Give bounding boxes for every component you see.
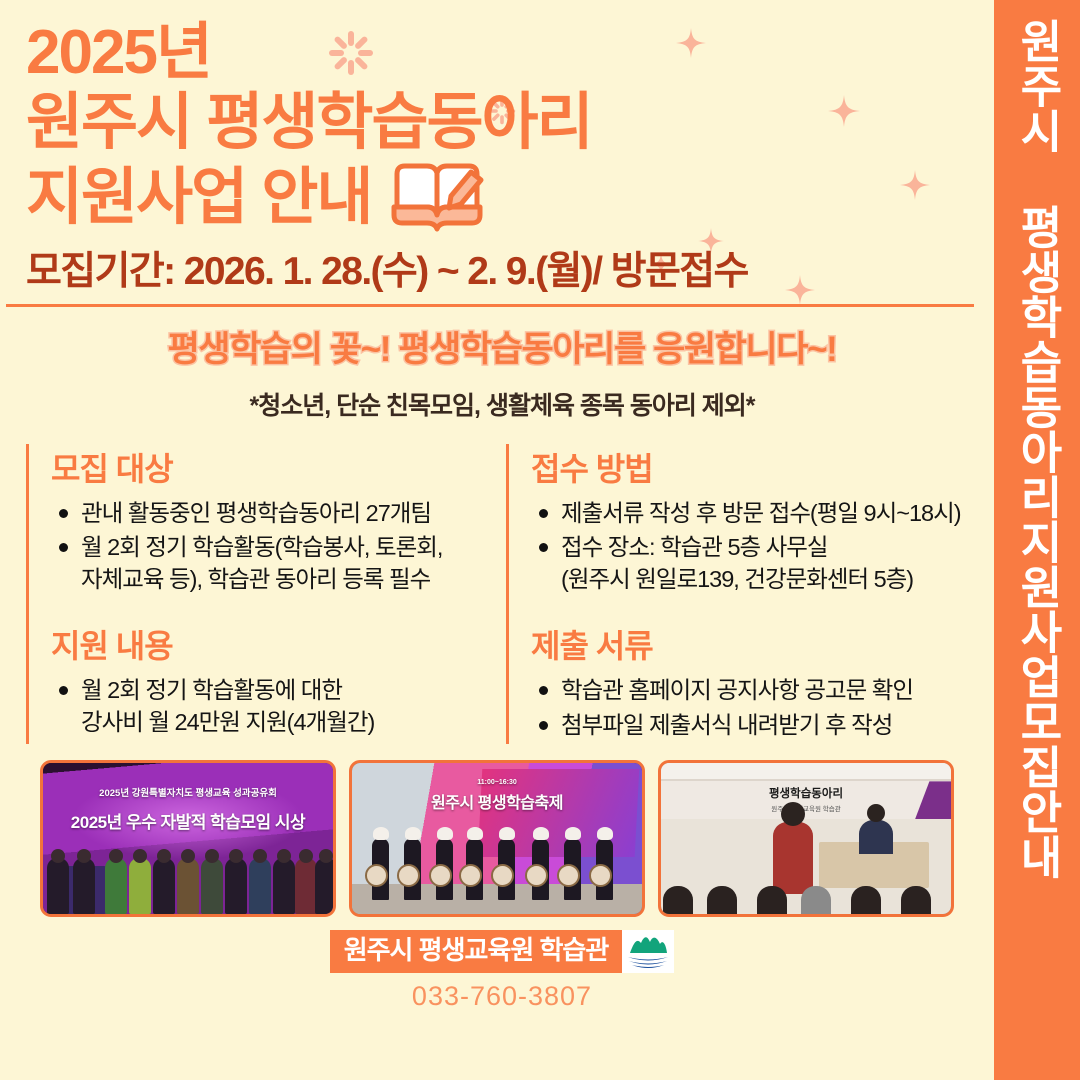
photo-caption-sub: 11:00~16:30 <box>477 779 517 786</box>
divider-line <box>6 304 974 307</box>
phone-number: 033-760-3807 <box>412 981 592 1012</box>
application-list: 제출서류 작성 후 방문 접수(평일 9시~18시) 접수 장소: 학습관 5층… <box>531 498 978 595</box>
page-title: 2025년 원주시 평생학습동아리 지원사업 안내 <box>26 18 978 237</box>
footer: 원주시 평생교육원 학습관 033-760-3807 <box>26 930 978 1012</box>
award-ceremony-photo: 2025년 강원특별자치도 평생교육 성과공유회 2025년 우수 자발적 학습… <box>40 760 336 917</box>
photo-strip: 2025년 강원특별자치도 평생교육 성과공유회 2025년 우수 자발적 학습… <box>26 760 978 917</box>
exclusion-note: *청소년, 단순 친목모임, 생활체육 종목 동아리 제외* <box>26 386 978 422</box>
list-item: 월 2회 정기 학습활동에 대한 강사비 월 24만원 지원(4개월간) <box>51 675 498 738</box>
slogan-text: 평생학습의 꽃~! 평생학습동아리를 응원합니다~! <box>26 321 978 372</box>
title-line-3: 지원사업 안내 <box>26 163 371 233</box>
photo-caption-main: 2025년 우수 자발적 학습모임 시상 <box>71 808 305 833</box>
organization-name: 원주시 평생교육원 학습관 <box>330 930 623 973</box>
photo-caption-main: 원주시 평생학습축제 <box>431 789 563 813</box>
main-content: 2025년 원주시 평생학습동아리 지원사업 안내 모집기간: 2026. 1.… <box>0 0 994 1080</box>
support-list: 월 2회 정기 학습활동에 대한 강사비 월 24만원 지원(4개월간) <box>51 675 498 738</box>
club-meeting-photo: 평생학습동아리 원주시 평생교육원 학습관 <box>658 760 954 917</box>
photo-caption-main: 평생학습동아리 <box>769 785 843 801</box>
title-line-2: 원주시 평생학습동아리 <box>26 88 978 158</box>
list-item: 접수 장소: 학습관 5층 사무실 (원주시 원일로139, 건강문화센터 5층… <box>531 532 978 595</box>
open-book-with-pencil-icon <box>389 158 485 237</box>
wonju-city-logo-icon <box>622 930 674 973</box>
side-band-line-1: 원주시 평생학습동아리지원사업 <box>1014 18 1060 699</box>
section-heading-application: 접수 방법 <box>531 444 978 490</box>
list-item: 학습관 홈페이지 공지사항 공고문 확인 <box>531 675 978 706</box>
side-band-line-2: 모집안내 <box>1014 699 1060 879</box>
list-item: 제출서류 작성 후 방문 접수(평일 9시~18시) <box>531 498 978 529</box>
list-item: 관내 활동중인 평생학습동아리 27개팀 <box>51 498 498 529</box>
lifelong-learning-festival-photo: 11:00~16:30 원주시 평생학습축제 <box>349 760 645 917</box>
photo-caption-sub: 2025년 강원특별자치도 평생교육 성과공유회 <box>99 785 277 799</box>
section-heading-support: 지원 내용 <box>51 621 498 667</box>
target-list: 관내 활동중인 평생학습동아리 27개팀 월 2회 정기 학습활동(학습봉사, … <box>51 498 498 595</box>
section-heading-documents: 제출 서류 <box>531 621 978 667</box>
documents-list: 학습관 홈페이지 공지사항 공고문 확인 첨부파일 제출서식 내려받기 후 작성 <box>531 675 978 741</box>
info-column-right: 접수 방법 제출서류 작성 후 방문 접수(평일 9시~18시) 접수 장소: … <box>506 444 978 744</box>
organization-row: 원주시 평생교육원 학습관 <box>330 930 675 973</box>
poster-root: 2025년 원주시 평생학습동아리 지원사업 안내 모집기간: 2026. 1.… <box>0 0 1080 1080</box>
recruitment-period: 모집기간: 2026. 1. 28.(수) ~ 2. 9.(월)/ 방문접수 <box>26 251 978 294</box>
info-columns: 모집 대상 관내 활동중인 평생학습동아리 27개팀 월 2회 정기 학습활동(… <box>26 444 978 744</box>
side-band: 원주시 평생학습동아리지원사업 모집안내 <box>994 0 1080 1080</box>
title-line-1: 2025년 <box>26 18 978 88</box>
section-heading-target: 모집 대상 <box>51 444 498 490</box>
list-item: 월 2회 정기 학습활동(학습봉사, 토론회, 자체교육 등), 학습관 동아리… <box>51 532 498 595</box>
list-item: 첨부파일 제출서식 내려받기 후 작성 <box>531 710 978 741</box>
info-column-left: 모집 대상 관내 활동중인 평생학습동아리 27개팀 월 2회 정기 학습활동(… <box>26 444 498 744</box>
